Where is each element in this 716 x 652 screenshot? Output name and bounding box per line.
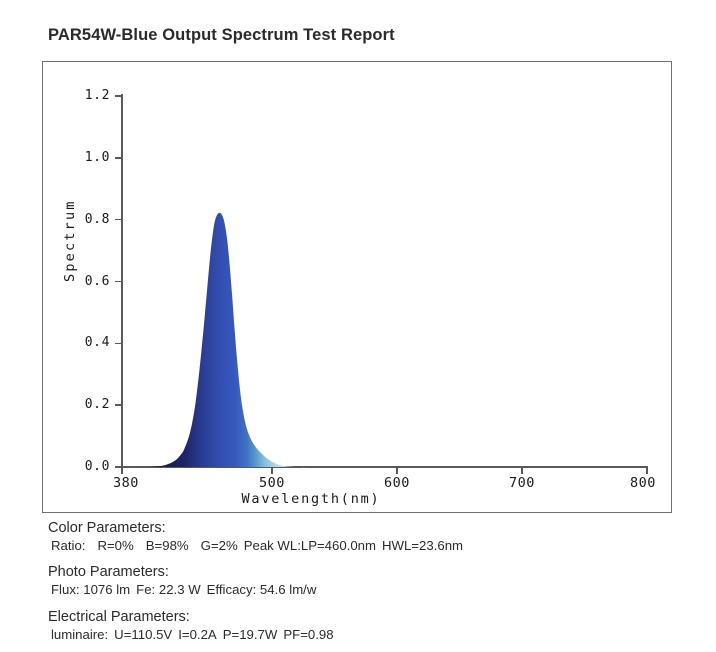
y-axis-tick-label: 1.2: [78, 88, 110, 103]
device-label: luminaire:: [51, 627, 108, 642]
x-axis-spine: [121, 466, 648, 468]
y-axis-tick: [115, 466, 121, 467]
electrical-parameters-values: luminaire:U=110.5VI=0.2AP=19.7WPF=0.98: [48, 626, 688, 643]
x-axis-tick: [271, 468, 272, 474]
electrical-parameters-heading: Electrical Parameters:: [48, 608, 688, 626]
x-axis-tick: [396, 468, 397, 474]
y-axis-tick-label: 0.4: [78, 335, 110, 350]
ratio-red: R=0%: [97, 538, 133, 553]
voltage-value: U=110.5V: [114, 627, 172, 642]
y-axis-tick-label: 0.2: [78, 397, 110, 412]
current-value: I=0.2A: [178, 627, 217, 642]
y-axis-tick: [115, 95, 121, 96]
color-parameters-values: Ratio:R=0%B=98%G=2%Peak WL:LP=460.0nmHWL…: [48, 537, 688, 554]
efficacy-value: Efficacy: 54.6 lm/w: [207, 582, 317, 597]
peak-wavelength: Peak WL:LP=460.0nm: [244, 538, 376, 553]
y-axis-tick: [115, 343, 121, 344]
ratio-label: Ratio:: [51, 538, 85, 553]
y-axis-tick: [115, 157, 121, 158]
radiant-flux-value: Fe: 22.3 W: [136, 582, 201, 597]
x-axis-tick-label: 500: [259, 475, 285, 491]
y-axis-tick: [115, 219, 121, 220]
x-axis-tick-label: 380: [113, 475, 139, 491]
x-axis-tick: [521, 468, 522, 474]
chart-frame: [42, 61, 672, 513]
power-value: P=19.7W: [223, 627, 278, 642]
x-axis-label: Wavelength(nm): [242, 491, 381, 507]
photo-parameters-group: Photo Parameters: Flux: 1076 lmFe: 22.3 …: [48, 563, 688, 598]
y-axis-label: Spectrum: [62, 199, 78, 282]
y-axis-tick: [115, 404, 121, 405]
color-parameters-group: Color Parameters: Ratio:R=0%B=98%G=2%Pea…: [48, 519, 688, 554]
flux-value: Flux: 1076 lm: [51, 582, 130, 597]
report-page: PAR54W-Blue Output Spectrum Test Report …: [0, 0, 716, 648]
ratio-blue: B=98%: [146, 538, 189, 553]
color-parameters-heading: Color Parameters:: [48, 519, 688, 537]
x-axis-tick-label: 600: [384, 475, 410, 491]
y-axis-spine: [121, 94, 123, 469]
y-axis-tick-label: 0.6: [78, 274, 110, 289]
x-axis-tick: [121, 468, 122, 474]
y-axis-tick: [115, 281, 121, 282]
power-factor-value: PF=0.98: [283, 627, 333, 642]
x-axis-tick-label: 800: [630, 475, 656, 491]
x-axis-tick-label: 700: [509, 475, 535, 491]
y-axis-tick-label: 0.8: [78, 212, 110, 227]
ratio-green: G=2%: [201, 538, 238, 553]
photo-parameters-values: Flux: 1076 lmFe: 22.3 WEfficacy: 54.6 lm…: [48, 581, 688, 598]
y-axis-tick-label: 1.0: [78, 150, 110, 165]
photo-parameters-heading: Photo Parameters:: [48, 563, 688, 581]
page-title: PAR54W-Blue Output Spectrum Test Report: [48, 26, 395, 45]
half-wavelength: HWL=23.6nm: [382, 538, 463, 553]
y-axis-tick-label: 0.0: [78, 459, 110, 474]
x-axis-tick: [646, 468, 647, 474]
parameters-section: Color Parameters: Ratio:R=0%B=98%G=2%Pea…: [48, 519, 688, 652]
electrical-parameters-group: Electrical Parameters: luminaire:U=110.5…: [48, 608, 688, 643]
